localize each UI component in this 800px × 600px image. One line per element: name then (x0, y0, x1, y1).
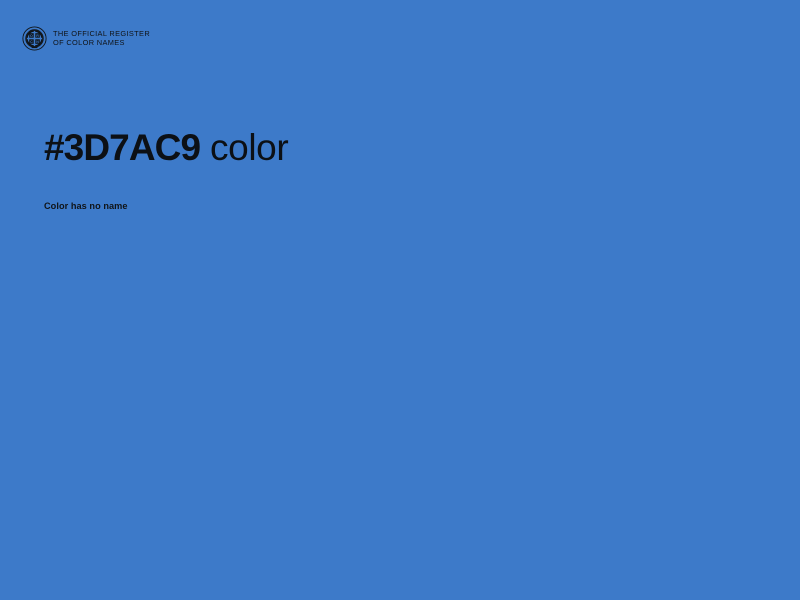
svg-text:R: R (36, 34, 39, 38)
svg-text:C: C (30, 40, 33, 44)
color-name-status: Color has no name (44, 170, 744, 211)
color-detail: #3D7AC9 color Color has no name (44, 126, 744, 211)
color-page: O R C N THE OFFICIAL REGISTER OF COLOR N… (0, 0, 800, 600)
svg-text:N: N (36, 40, 39, 44)
page-title-suffix: color (200, 127, 288, 168)
page-title: #3D7AC9 color (44, 126, 744, 170)
masthead[interactable]: O R C N THE OFFICIAL REGISTER OF COLOR N… (22, 26, 150, 51)
masthead-text: THE OFFICIAL REGISTER OF COLOR NAMES (53, 30, 150, 47)
color-hex-value: #3D7AC9 (44, 127, 200, 168)
register-seal-icon: O R C N (22, 26, 47, 51)
masthead-line-2: OF COLOR NAMES (53, 39, 150, 48)
svg-text:O: O (30, 34, 33, 38)
